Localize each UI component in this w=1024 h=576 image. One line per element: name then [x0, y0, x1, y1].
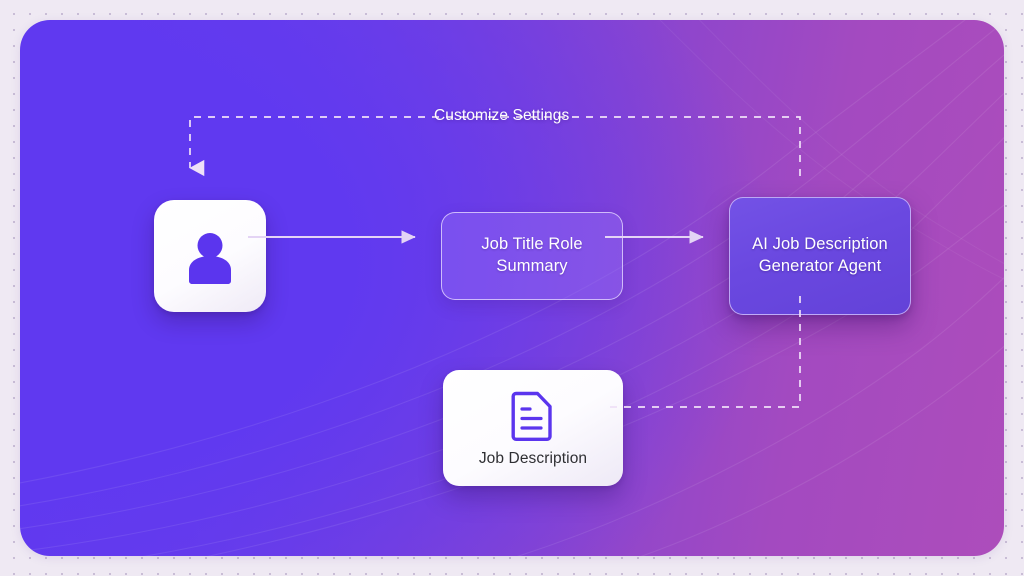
- node-summary-label: Job Title Role Summary: [481, 234, 582, 278]
- edge-label-customize-settings: Customize Settings: [434, 107, 569, 125]
- node-ai-job-description-generator-agent[interactable]: AI Job Description Generator Agent: [729, 197, 911, 315]
- node-user-card[interactable]: [154, 200, 266, 312]
- person-icon: [179, 225, 241, 287]
- node-summary-line2: Summary: [496, 257, 567, 275]
- node-agent-line2: Generator Agent: [759, 257, 882, 275]
- document-icon: [510, 389, 556, 441]
- node-agent-line1: AI Job Description: [752, 235, 888, 253]
- node-summary-line1: Job Title Role: [481, 235, 582, 253]
- node-job-description-card[interactable]: Job Description: [443, 370, 623, 486]
- diagram-panel: Job Title Role Summary AI Job Descriptio…: [20, 20, 1004, 556]
- node-job-title-role-summary[interactable]: Job Title Role Summary: [441, 212, 623, 300]
- node-agent-label: AI Job Description Generator Agent: [752, 234, 888, 278]
- diagram-canvas: Job Title Role Summary AI Job Descriptio…: [0, 0, 1024, 576]
- node-job-description-label: Job Description: [479, 450, 587, 468]
